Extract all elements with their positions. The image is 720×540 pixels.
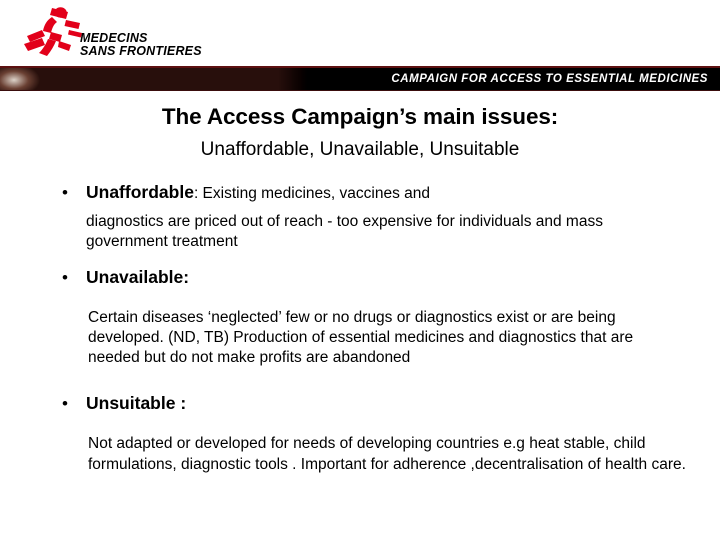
bullet-inline-text: : Existing medicines, vaccines and bbox=[194, 185, 430, 202]
page-subtitle: Unaffordable, Unavailable, Unsuitable bbox=[0, 130, 720, 161]
banner-photo-collage bbox=[0, 68, 312, 90]
page-title: The Access Campaign’s main issues: bbox=[0, 91, 720, 130]
bullet-lead-label: Unsuitable : bbox=[86, 393, 186, 413]
bullet-marker-icon: • bbox=[62, 269, 86, 286]
list-item: • Unaffordable: Existing medicines, vacc… bbox=[0, 182, 720, 203]
bullet-body-text: diagnostics are priced out of reach - to… bbox=[0, 212, 720, 253]
slide-body: The Access Campaign’s main issues: Unaff… bbox=[0, 91, 720, 540]
slide-header: MEDECINS SANS FRONTIERES bbox=[0, 0, 720, 66]
bullet-list: • Unaffordable: Existing medicines, vacc… bbox=[0, 161, 720, 475]
list-item: • Unsuitable : bbox=[0, 393, 720, 414]
bullet-text-wrap: Unavailable: bbox=[86, 267, 189, 288]
banner-title: CAMPAIGN FOR ACCESS TO ESSENTIAL MEDICIN… bbox=[391, 73, 708, 85]
bullet-lead-label: Unavailable: bbox=[86, 267, 189, 287]
bullet-text-wrap: Unsuitable : bbox=[86, 393, 186, 414]
bullet-body-text: Not adapted or developed for needs of de… bbox=[0, 434, 720, 475]
msf-running-figure-icon bbox=[22, 6, 84, 58]
msf-logo-line2: SANS FRONTIERES bbox=[80, 45, 202, 58]
msf-logo: MEDECINS SANS FRONTIERES bbox=[22, 6, 197, 60]
bullet-marker-icon: • bbox=[62, 395, 86, 412]
bullet-body-text: Certain diseases ‘neglected’ few or no d… bbox=[0, 308, 720, 369]
msf-logo-wordmark: MEDECINS SANS FRONTIERES bbox=[80, 32, 202, 58]
bullet-text-wrap: Unaffordable: Existing medicines, vaccin… bbox=[86, 182, 430, 203]
campaign-banner: CAMPAIGN FOR ACCESS TO ESSENTIAL MEDICIN… bbox=[0, 66, 720, 91]
list-item: • Unavailable: bbox=[0, 267, 720, 288]
bullet-lead-label: Unaffordable bbox=[86, 182, 194, 202]
bullet-marker-icon: • bbox=[62, 184, 86, 201]
